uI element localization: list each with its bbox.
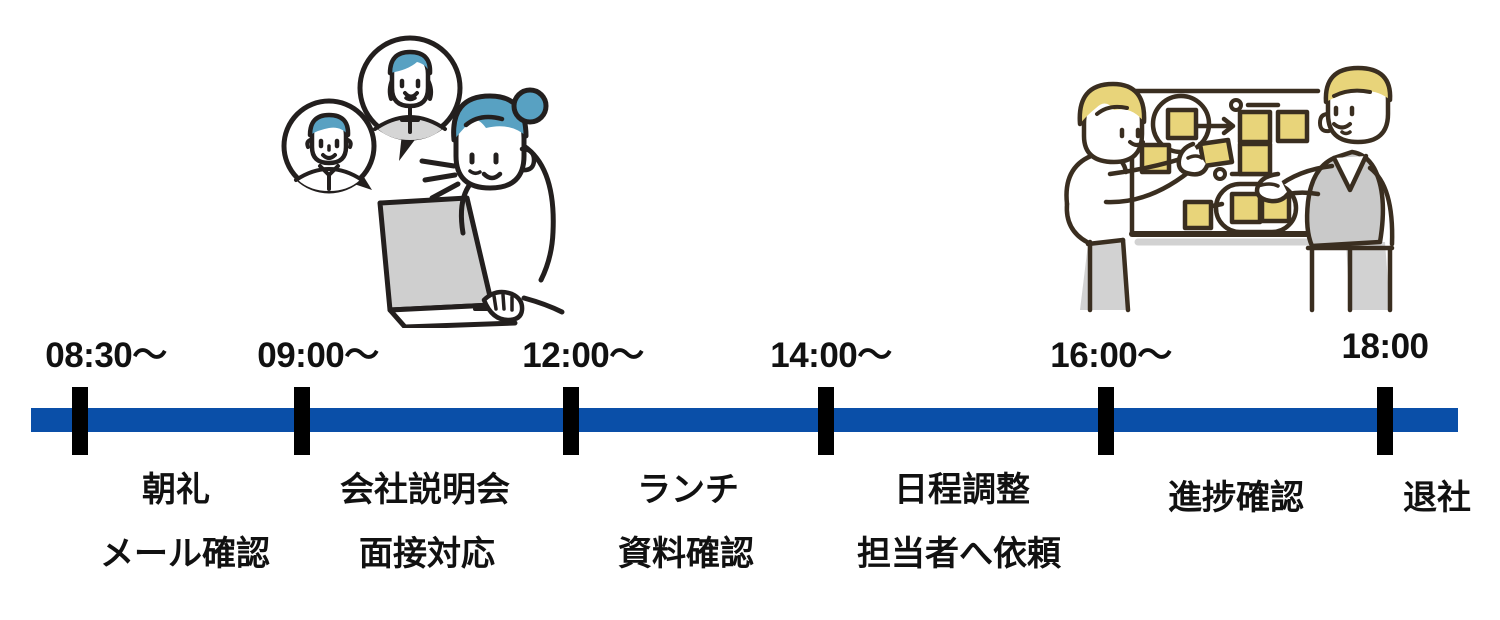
timeline-tick-5: [1098, 387, 1114, 455]
task-label-6-line-1: 退社: [1403, 470, 1471, 519]
task-label-1-line-2: メール確認: [100, 526, 270, 575]
time-label-4: 14:00〜: [770, 327, 892, 378]
timeline-tick-6: [1377, 387, 1393, 455]
task-label-2-line-2: 面接対応: [359, 526, 495, 575]
time-label-3: 12:00〜: [522, 327, 644, 378]
online-meeting-illustration: [262, 28, 602, 328]
task-label-5-line-1: 進捗確認: [1168, 470, 1304, 519]
time-label-1: 08:30〜: [45, 327, 167, 378]
task-label-2-line-1: 会社説明会: [340, 462, 510, 511]
emphasis-lines: [422, 161, 458, 198]
time-label-5: 16:00〜: [1050, 327, 1172, 378]
timeline-tick-4: [818, 387, 834, 455]
time-label-2: 09:00〜: [257, 327, 379, 378]
task-label-4-line-2: 担当者へ依頼: [857, 526, 1061, 575]
whiteboard-meeting-illustration: [1050, 62, 1415, 330]
timeline-tick-1: [72, 387, 88, 455]
task-label-3-line-1: ランチ: [637, 462, 739, 511]
task-label-3-line-2: 資料確認: [618, 526, 754, 575]
video-bubble-left-icon: [284, 101, 374, 191]
task-label-1-line-1: 朝礼: [142, 462, 210, 511]
time-label-6: 18:00: [1341, 327, 1428, 367]
timeline-axis-bar: [31, 408, 1458, 432]
task-label-4-line-1: 日程調整: [894, 462, 1030, 511]
timeline-infographic: 08:30〜 09:00〜 12:00〜 14:00〜 16:00〜 18:00…: [0, 0, 1500, 620]
timeline-tick-3: [563, 387, 579, 455]
timeline-tick-2: [294, 387, 310, 455]
